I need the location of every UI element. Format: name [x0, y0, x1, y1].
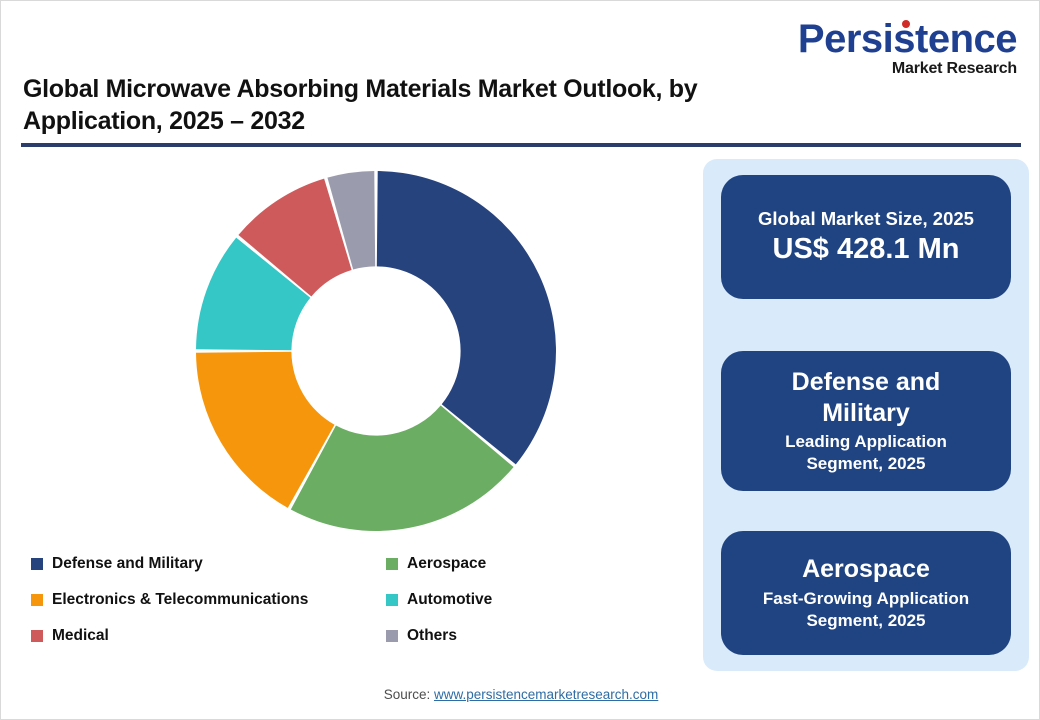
chart-legend: Defense and Military Aerospace Electroni… [31, 546, 671, 654]
legend-swatch-icon [386, 630, 398, 642]
legend-swatch-icon [31, 558, 43, 570]
legend-item-label: Automotive [407, 591, 492, 609]
leading-segment-subtext: Leading Application Segment, 2025 [767, 431, 965, 475]
stat-card-market-size[interactable]: Global Market Size, 2025 US$ 428.1 Mn [721, 175, 1011, 299]
company-logo: Persistence Market Research [798, 19, 1017, 77]
stat-card-leading-segment[interactable]: Defense and Military Leading Application… [721, 351, 1011, 491]
legend-swatch-icon [31, 630, 43, 642]
legend-item-label: Others [407, 627, 457, 645]
fastest-segment-name: Aerospace [776, 554, 956, 585]
leading-segment-name: Defense and Military [721, 367, 1011, 430]
logo-accent-dot-icon [902, 20, 910, 28]
source-label: Source: [384, 687, 434, 702]
market-size-caption: Global Market Size, 2025 [758, 208, 974, 230]
legend-swatch-icon [386, 594, 398, 606]
fastest-segment-subtext-line1: Fast-Growing Application [763, 589, 969, 608]
legend-swatch-icon [386, 558, 398, 570]
page-title: Global Microwave Absorbing Materials Mar… [23, 73, 783, 137]
legend-item-label: Electronics & Telecommunications [52, 591, 308, 609]
header-divider [21, 143, 1021, 147]
legend-swatch-icon [31, 594, 43, 606]
legend-item-label: Defense and Military [52, 555, 203, 573]
source-link[interactable]: www.persistencemarketresearch.com [434, 687, 658, 702]
fastest-segment-subtext-line2: Segment, 2025 [806, 611, 925, 630]
legend-item-label: Medical [52, 627, 109, 645]
legend-item-label: Aerospace [407, 555, 486, 573]
donut-chart-svg [191, 166, 561, 536]
legend-item-medical[interactable]: Medical [31, 627, 386, 645]
logo-tagline: Market Research [798, 61, 1017, 77]
donut-chart [21, 156, 681, 556]
legend-item-aerospace[interactable]: Aerospace [386, 555, 671, 573]
stats-side-panel: Global Market Size, 2025 US$ 428.1 Mn De… [703, 159, 1029, 671]
infographic-canvas: Persistence Market Research Global Micro… [0, 0, 1040, 720]
legend-item-others[interactable]: Others [386, 627, 671, 645]
market-size-value: US$ 428.1 Mn [773, 232, 960, 267]
donut-slice-defense-and-military[interactable] [377, 171, 556, 464]
stat-card-fastest-growing-segment[interactable]: Aerospace Fast-Growing Application Segme… [721, 531, 1011, 655]
legend-item-automotive[interactable]: Automotive [386, 591, 671, 609]
legend-item-electronics-and-telecommunications[interactable]: Electronics & Telecommunications [31, 591, 386, 609]
legend-item-defense-and-military[interactable]: Defense and Military [31, 555, 386, 573]
source-footer: Source: www.persistencemarketresearch.co… [1, 687, 1040, 702]
leading-segment-subtext-line1: Leading Application [785, 432, 947, 451]
logo-wordmark: Persistence [798, 19, 1017, 59]
leading-segment-subtext-line2: Segment, 2025 [806, 454, 925, 473]
fastest-segment-subtext: Fast-Growing Application Segment, 2025 [745, 588, 987, 632]
